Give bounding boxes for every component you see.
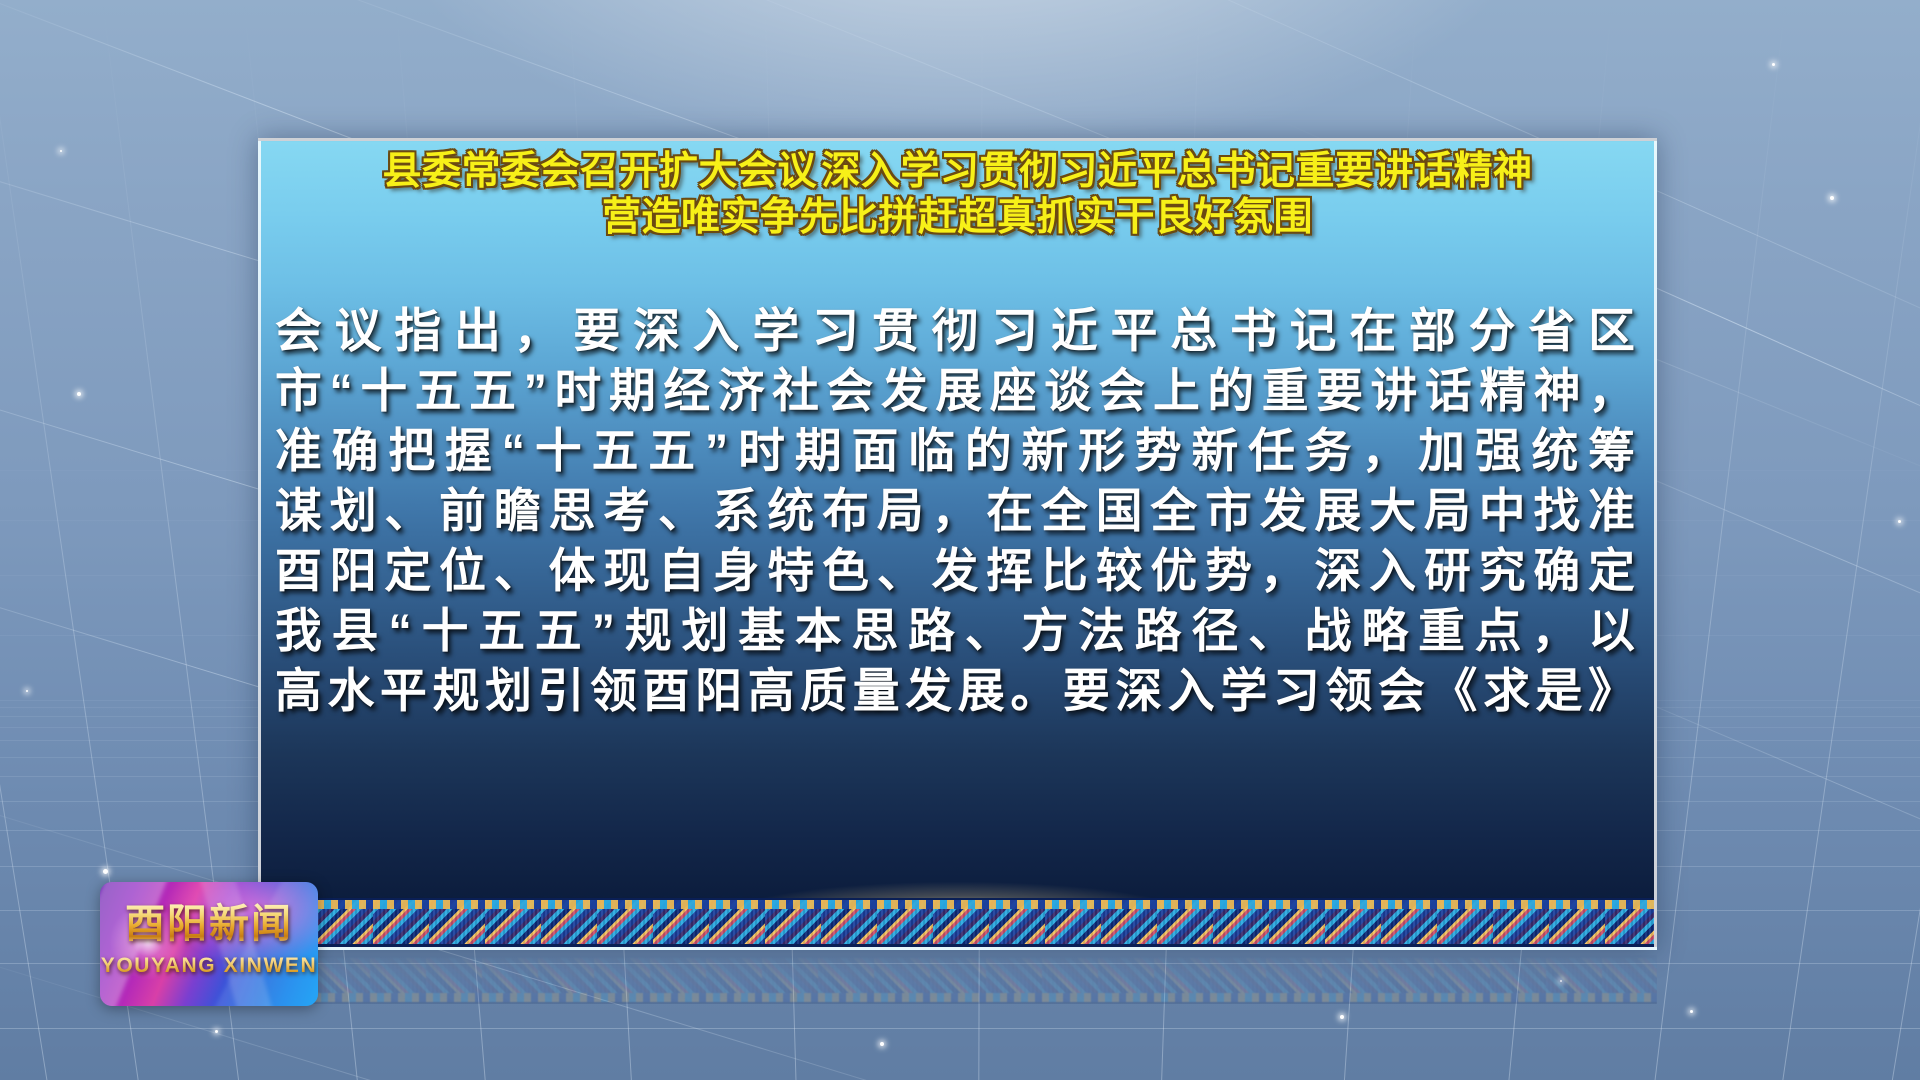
headline-line-2: 深入学习贯彻习近平总书记重要讲话精神	[821, 149, 1532, 195]
tujia-pattern-border	[261, 898, 1654, 947]
logo-pinyin-name: YOUYANG XINWEN	[100, 954, 318, 978]
article-body: 会议指出，要深入学习贯彻习近平总书记在部分省区 市“十五五”时期经济社会发展座谈…	[275, 301, 1640, 721]
news-content-panel: 县委常委会召开扩大会议 深入学习贯彻习近平总书记重要讲话精神 营造唯实争先比拼赶…	[258, 138, 1657, 950]
logo-chinese-name: 酉阳新闻	[100, 902, 318, 946]
body-line-4: 谋划、前瞻思考、系统布局，在全国全市发展大局中找准	[275, 481, 1635, 541]
body-line-5: 酉阳定位、体现自身特色、发挥比较优势，深入研究确定	[275, 541, 1635, 601]
headline-block: 县委常委会召开扩大会议 深入学习贯彻习近平总书记重要讲话精神 营造唯实争先比拼赶…	[261, 149, 1654, 241]
body-line-2: 市“十五五”时期经济社会发展座谈会上的重要讲话精神，	[275, 361, 1635, 421]
channel-logo: 酉阳新闻 YOUYANG XINWEN	[100, 882, 318, 1006]
headline-line-3: 营造唯实争先比拼赶超真抓实干良好氛围	[602, 195, 1313, 241]
body-line-6: 我县“十五五”规划基本思路、方法路径、战略重点，以	[275, 601, 1635, 661]
headline-line-1: 县委常委会召开扩大会议	[383, 149, 818, 195]
body-line-1: 会议指出，要深入学习贯彻习近平总书记在部分省区	[275, 301, 1635, 361]
body-line-7: 高水平规划引领酉阳高质量发展。要深入学习领会《求是》	[275, 661, 1635, 721]
body-line-3: 准确把握“十五五”时期面临的新形势新任务，加强统筹	[275, 421, 1635, 481]
